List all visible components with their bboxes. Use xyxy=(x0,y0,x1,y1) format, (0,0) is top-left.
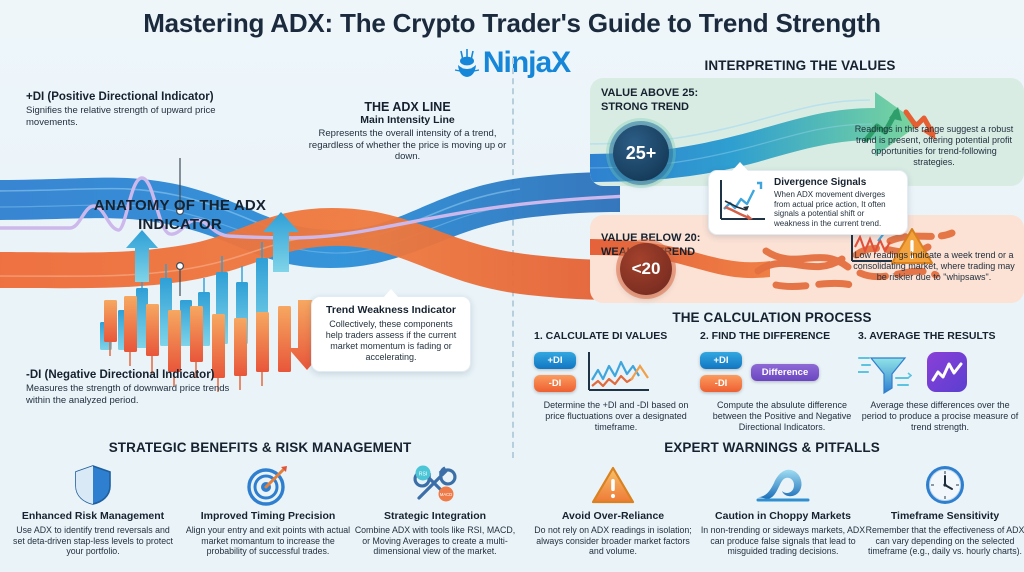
chip-difference: Difference xyxy=(751,364,819,381)
warning-card-3: Timeframe Sensitivity Remember that the … xyxy=(862,462,1024,557)
benefits-title: STRATEGIC BENEFITS & RISK MANAGEMENT xyxy=(10,440,510,455)
calc-step-3-heading: 3. AVERAGE THE RESULTS xyxy=(858,330,1022,343)
warning-triangle-icon xyxy=(591,465,635,505)
page-title: Mastering ADX: The Crypto Trader's Guide… xyxy=(0,8,1024,39)
badge-25-plus: 25+ xyxy=(613,125,669,181)
benefit-card-2: Improved Timing Precision Align your ent… xyxy=(185,462,351,557)
svg-text:MACD: MACD xyxy=(440,492,452,497)
warning-card-2: Caution in Choppy Markets In non-trendin… xyxy=(700,462,866,557)
divergence-callout: Divergence Signals When ADX movement div… xyxy=(708,170,908,235)
interpreting-title: INTERPRETING THE VALUES xyxy=(578,58,1022,73)
target-dart-icon xyxy=(247,464,289,506)
clock-icon xyxy=(924,464,966,506)
ndi-title: -DI (Negative Directional Indicator) xyxy=(26,368,251,382)
benefit-2-desc: Align your entry and exit points with ac… xyxy=(185,525,351,557)
warning-card-1: Avoid Over-Reliance Do not rely on ADX r… xyxy=(530,462,696,557)
calc-step-2-desc: Compute the absulute difference between … xyxy=(700,400,864,433)
warning-1-heading: Avoid Over-Reliance xyxy=(530,510,696,523)
anatomy-heading: ANATOMY OF THE ADX INDICATOR xyxy=(55,196,305,234)
calc-step-1: 1. CALCULATE DI VALUES +DI -DI Determine… xyxy=(534,330,698,433)
adx-line-desc: Represents the overall intensity of a tr… xyxy=(300,128,515,163)
trend-weakness-callout: Trend Weakness Indicator Collectively, t… xyxy=(311,296,471,372)
calc-step-3: 3. AVERAGE THE RESULTS Average these dif… xyxy=(858,330,1022,433)
chip-ndi-step1: -DI xyxy=(534,375,576,392)
shield-icon xyxy=(74,464,112,506)
weak-trend-desc: Low readings indicate a week trend or a … xyxy=(853,250,1015,283)
trend-weakness-title: Trend Weakness Indicator xyxy=(321,304,461,317)
pdi-title: +DI (Positive Directional Indicator) xyxy=(26,90,241,104)
chip-ndi-step2: -DI xyxy=(700,375,742,392)
warning-3-heading: Timeframe Sensitivity xyxy=(862,510,1024,523)
benefit-card-1: Enhanced Risk Management Use ADX to iden… xyxy=(10,462,176,557)
ndi-desc: Measures the strength of downward price … xyxy=(26,383,251,406)
chip-pdi-step2: +DI xyxy=(700,352,742,369)
wave-icon xyxy=(756,465,810,505)
calc-step-2: 2. FIND THE DIFFERENCE +DI -DI Differenc… xyxy=(700,330,864,433)
strong-band-label-line1: VALUE ABOVE 25: xyxy=(601,86,698,100)
warning-2-heading: Caution in Choppy Markets xyxy=(700,510,866,523)
adx-line-subtitle: Main Intensity Line xyxy=(300,114,515,127)
strong-band-label-line2: STRONG TREND xyxy=(601,100,698,114)
divergence-chart-icon xyxy=(717,177,767,223)
calc-step-1-heading: 1. CALCULATE DI VALUES xyxy=(534,330,698,343)
divergence-title: Divergence Signals xyxy=(774,177,899,189)
chip-pdi-step1: +DI xyxy=(534,352,576,369)
calc-step-3-desc: Average these differences over the perio… xyxy=(858,400,1022,433)
benefit-3-heading: Strategic Integration xyxy=(352,510,518,523)
wrench-tools-icon: RSI MACD xyxy=(411,464,459,506)
ndi-label: -DI (Negative Directional Indicator) Mea… xyxy=(26,368,251,406)
warning-2-desc: In non-trending or sideways markets, ADX… xyxy=(700,525,866,557)
infographic-root: Mastering ADX: The Crypto Trader's Guide… xyxy=(0,0,1024,572)
funnel-icon xyxy=(858,350,912,394)
benefit-3-desc: Combine ADX with tools like RSI, MACD, o… xyxy=(352,525,518,557)
calculation-title: THE CALCULATION PROCESS xyxy=(520,310,1024,325)
line-chart-icon xyxy=(585,350,651,394)
strong-trend-desc: Readings in this range suggest a robust … xyxy=(853,124,1015,168)
benefit-card-3: RSI MACD Strategic Integration Combine A… xyxy=(352,462,518,557)
divergence-desc: When ADX movement diverges from actual p… xyxy=(774,190,899,228)
benefit-1-desc: Use ADX to identify trend reversals and … xyxy=(10,525,176,557)
warning-3-desc: Remember that the effectiveness of ADX c… xyxy=(862,525,1024,557)
svg-text:RSI: RSI xyxy=(419,472,427,478)
pdi-desc: Signifies the relative strength of upwar… xyxy=(26,105,241,128)
wave-chart-tile-icon xyxy=(926,351,968,393)
warnings-title: EXPERT WARNINGS & PITFALLS xyxy=(520,440,1024,455)
strong-band-label: VALUE ABOVE 25: STRONG TREND xyxy=(601,86,698,114)
warning-1-desc: Do not rely on ADX readings in isolation… xyxy=(530,525,696,557)
adx-line-title: THE ADX LINE xyxy=(300,100,515,114)
trend-weakness-desc: Collectively, these components help trad… xyxy=(321,319,461,363)
pdi-label: +DI (Positive Directional Indicator) Sig… xyxy=(26,90,241,128)
calc-step-2-heading: 2. FIND THE DIFFERENCE xyxy=(700,330,864,343)
benefit-1-heading: Enhanced Risk Management xyxy=(10,510,176,523)
benefit-2-heading: Improved Timing Precision xyxy=(185,510,351,523)
calc-step-1-desc: Determine the +DI and -DI based on price… xyxy=(534,400,698,433)
badge-under-20: <20 xyxy=(620,243,672,295)
adx-line-label: THE ADX LINE Main Intensity Line Represe… xyxy=(300,100,515,163)
